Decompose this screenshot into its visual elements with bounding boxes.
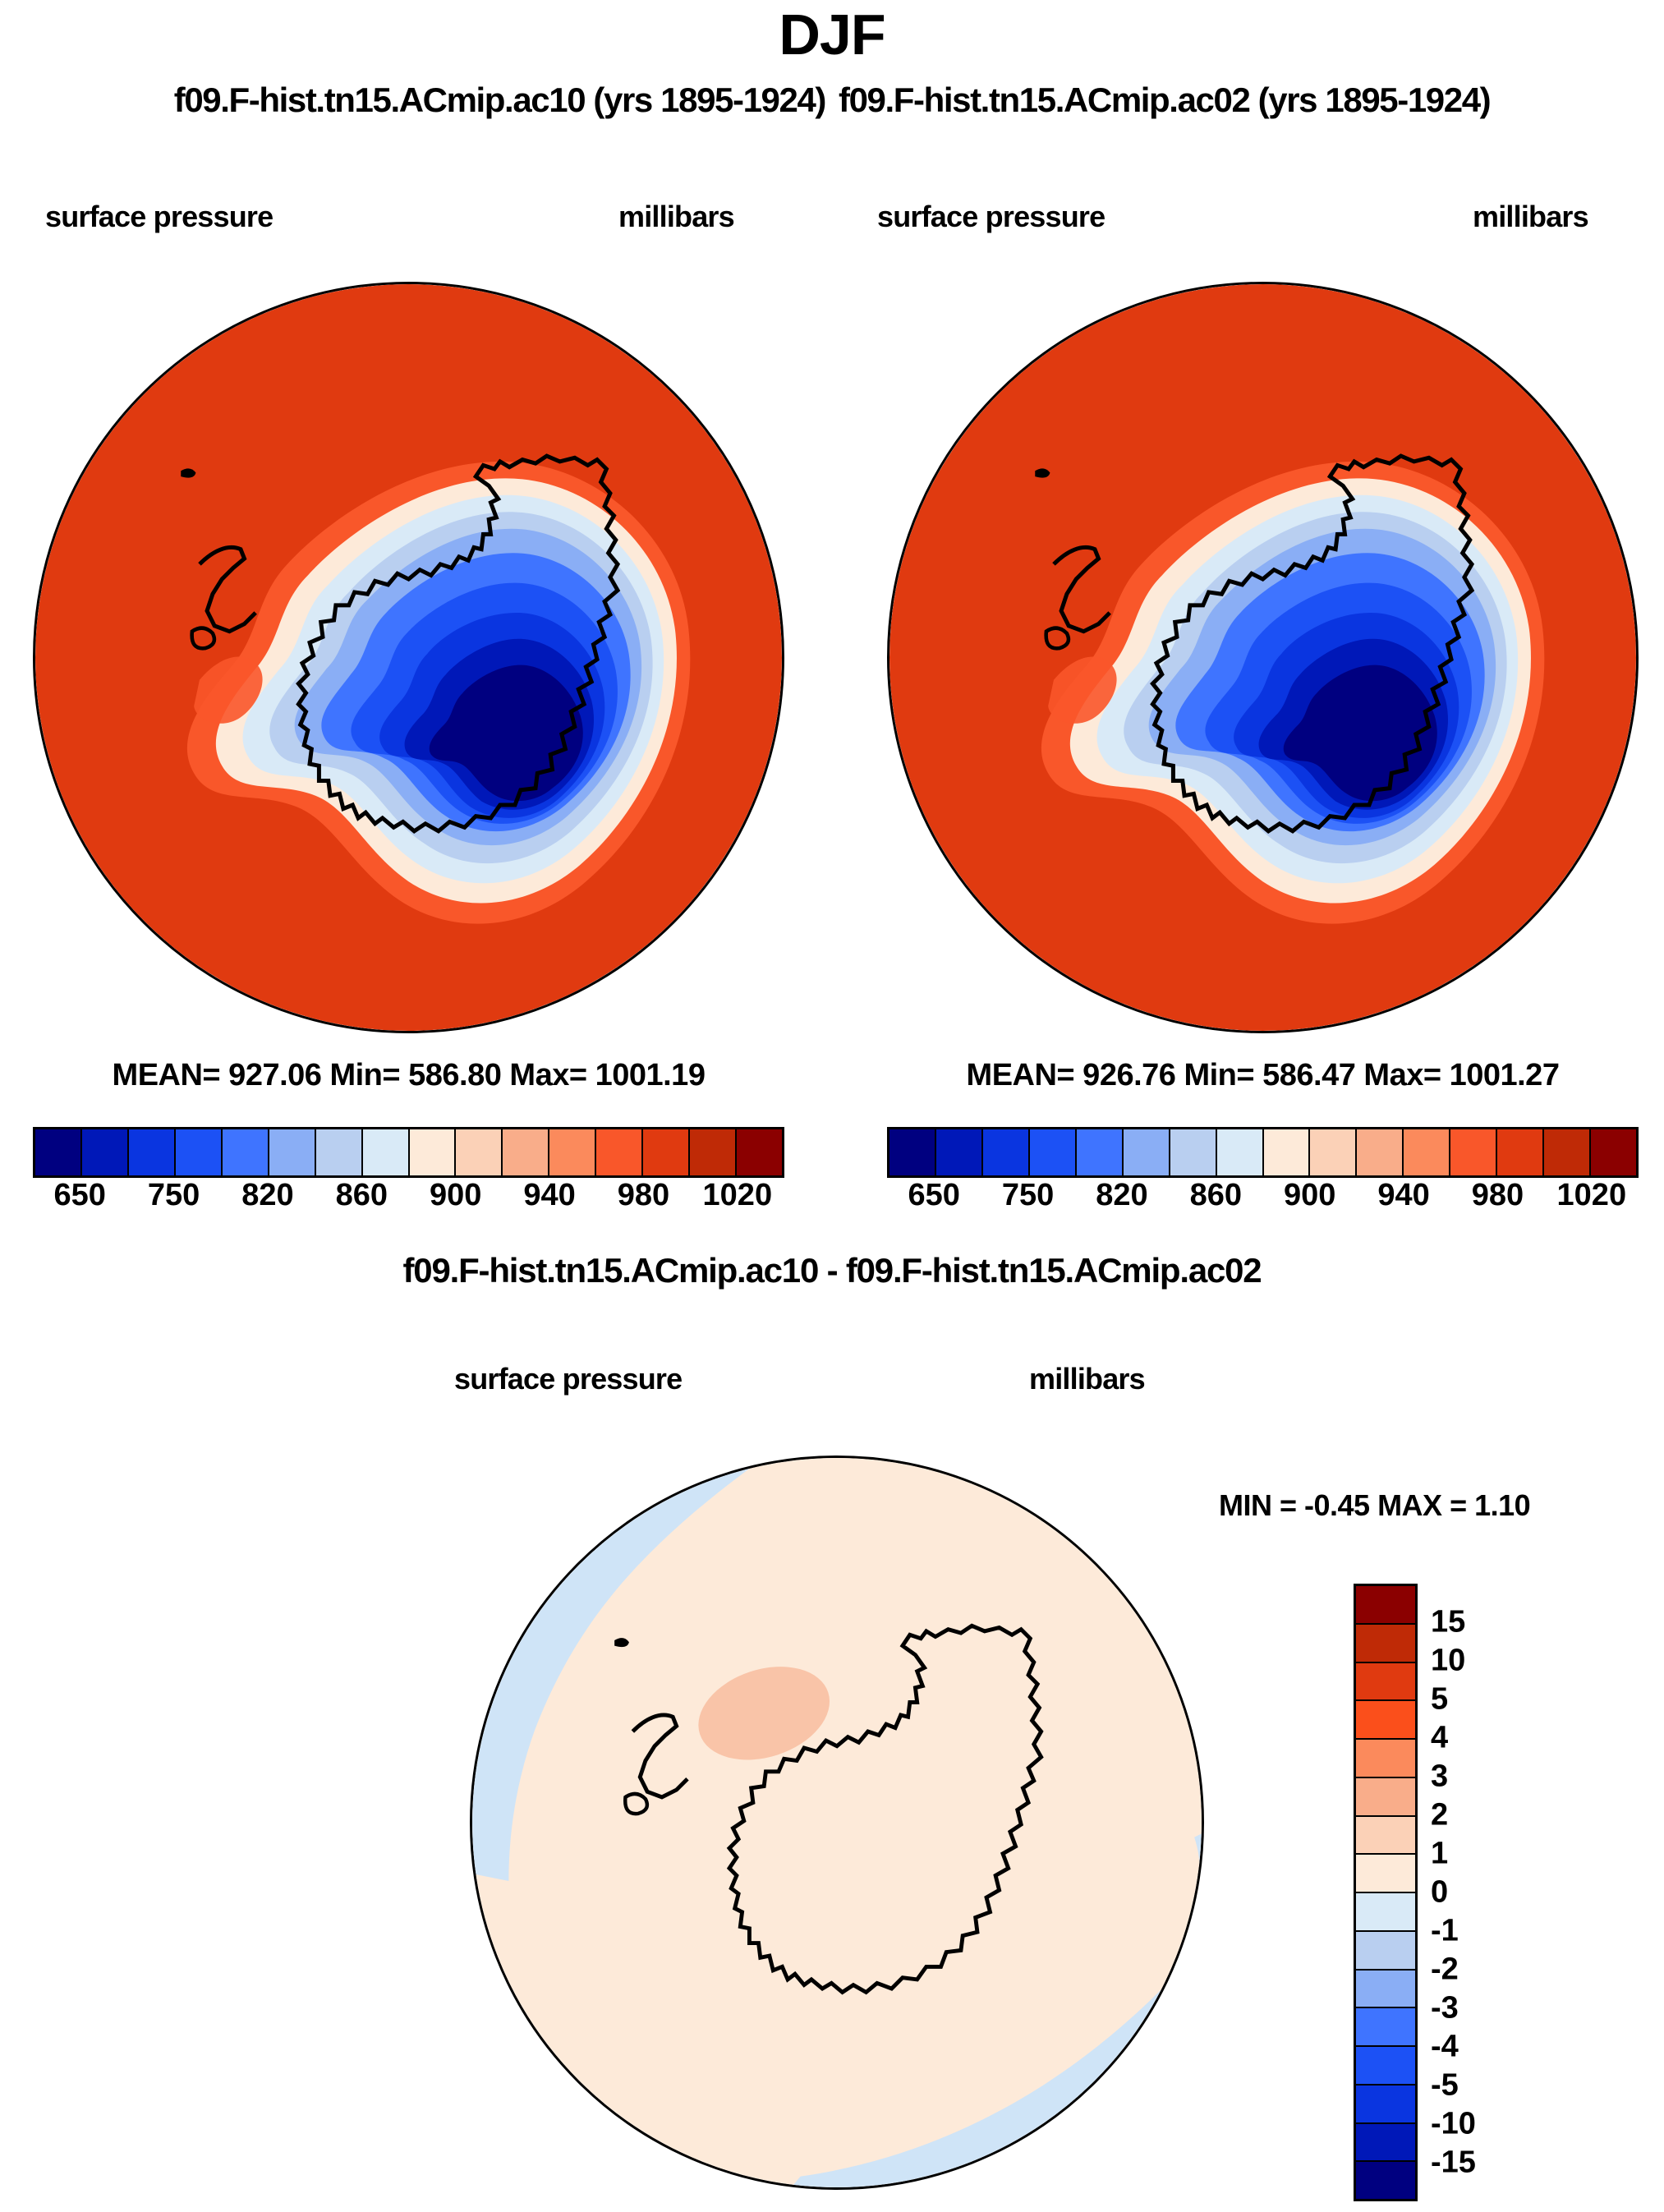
colorbar-tick-label: -10 [1431, 2107, 1476, 2142]
right-stats: MEAN= 926.76 Min= 586.47 Max= 1001.27 [887, 1058, 1639, 1093]
colorbar-segment [1357, 1129, 1404, 1175]
colorbar-tick-label: 860 [336, 1178, 388, 1213]
colorbar-left[interactable] [33, 1127, 784, 1178]
colorbar-segment [35, 1129, 82, 1175]
colorbar-segment [549, 1129, 596, 1175]
colorbar-tick-label: 750 [148, 1178, 200, 1213]
colorbar-segment [82, 1129, 129, 1175]
colorbar-tick-label: -15 [1431, 2145, 1476, 2181]
colorbar-segment [643, 1129, 690, 1175]
colorbar-diff-ticks: 1510543210-1-2-3-4-5-10-15 [1431, 1584, 1546, 2201]
diff-title: f09.F-hist.tn15.ACmip.ac10 - f09.F-hist.… [0, 1251, 1664, 1290]
colorbar-tick-label: 4 [1431, 1721, 1448, 1756]
colorbar-segment [936, 1129, 983, 1175]
colorbar-tick-label: 0 [1431, 1875, 1448, 1911]
colorbar-segment [1450, 1129, 1497, 1175]
colorbar-segment [1356, 1740, 1415, 1778]
colorbar-segment [1356, 1586, 1415, 1625]
colorbar-tick-label: 15 [1431, 1605, 1465, 1640]
map-diff-svg [472, 1458, 1202, 2187]
left-units-label: millibars [618, 200, 734, 234]
diff-variable-label: surface pressure [454, 1362, 682, 1396]
colorbar-segment [1217, 1129, 1264, 1175]
colorbar-tick-label: 650 [908, 1178, 959, 1213]
colorbar-tick-label: -1 [1431, 1914, 1459, 1949]
colorbar-tick-label: 980 [1472, 1178, 1524, 1213]
right-units-label: millibars [1473, 200, 1588, 234]
colorbar-segment [1356, 1778, 1415, 1817]
colorbar-tick-label: -2 [1431, 1952, 1459, 1988]
colorbar-segment [223, 1129, 269, 1175]
colorbar-segment [363, 1129, 410, 1175]
colorbar-segment [1170, 1129, 1217, 1175]
colorbar-segment [269, 1129, 316, 1175]
colorbar-segment [129, 1129, 176, 1175]
colorbar-tick-label: 820 [241, 1178, 293, 1213]
map-left-svg [35, 284, 782, 1031]
left-variable-label: surface pressure [45, 200, 273, 234]
colorbar-tick-label: -3 [1431, 1991, 1459, 2026]
map-right-svg [889, 284, 1636, 1031]
colorbar-segment [1356, 1855, 1415, 1893]
colorbar-segment [596, 1129, 643, 1175]
colorbar-segment [456, 1129, 503, 1175]
map-right-fields [889, 284, 1636, 1031]
colorbar-segment [410, 1129, 457, 1175]
colorbar-segment [1030, 1129, 1077, 1175]
colorbar-tick-label: 3 [1431, 1759, 1448, 1795]
right-variable-label: surface pressure [877, 200, 1105, 234]
colorbar-tick-label: 2 [1431, 1798, 1448, 1833]
colorbar-right[interactable] [887, 1127, 1639, 1178]
colorbar-tick-label: 900 [430, 1178, 481, 1213]
colorbar-segment [1356, 2124, 1415, 2163]
colorbar-segment [1356, 1817, 1415, 1856]
case-title-left: f09.F-hist.tn15.ACmip.ac10 (yrs 1895-192… [174, 80, 825, 120]
colorbar-segment [1356, 2086, 1415, 2124]
colorbar-segment [176, 1129, 223, 1175]
colorbar-segment [983, 1129, 1030, 1175]
left-stats: MEAN= 927.06 Min= 586.80 Max= 1001.19 [33, 1058, 784, 1093]
diff-units-label: millibars [1029, 1362, 1145, 1396]
colorbar-tick-label: 650 [53, 1178, 105, 1213]
case-titles-row: f09.F-hist.tn15.ACmip.ac10 (yrs 1895-192… [0, 80, 1664, 120]
colorbar-segment [889, 1129, 936, 1175]
colorbar-tick-label: 1 [1431, 1837, 1448, 1872]
colorbar-segment [690, 1129, 737, 1175]
colorbar-diff-wrap [1354, 1584, 1418, 2201]
colorbar-segment [1356, 1971, 1415, 2009]
colorbar-segment [1591, 1129, 1636, 1175]
colorbar-segment [1356, 1701, 1415, 1740]
diff-minmax: MIN = -0.45 MAX = 1.10 [1219, 1488, 1530, 1523]
colorbar-segment [1356, 2162, 1415, 2199]
colorbar-tick-label: 980 [618, 1178, 669, 1213]
colorbar-segment [1404, 1129, 1450, 1175]
colorbar-tick-label: 860 [1190, 1178, 1242, 1213]
colorbar-tick-label: -5 [1431, 2068, 1459, 2104]
colorbar-segment [1544, 1129, 1591, 1175]
colorbar-segment [1497, 1129, 1544, 1175]
colorbar-tick-label: 10 [1431, 1644, 1465, 1679]
colorbar-segment [1356, 1932, 1415, 1971]
colorbar-segment [316, 1129, 363, 1175]
colorbar-tick-label: 940 [1377, 1178, 1429, 1213]
map-left-antarctic-pressure[interactable] [33, 282, 784, 1033]
colorbar-right-ticks: 6507508208609009409801020 [887, 1178, 1639, 1227]
colorbar-tick-label: 820 [1096, 1178, 1147, 1213]
map-diff-antarctic-pressure[interactable] [470, 1456, 1204, 2190]
map-right-antarctic-pressure[interactable] [887, 282, 1639, 1033]
colorbar-segment [503, 1129, 549, 1175]
colorbar-segment [1356, 1893, 1415, 1932]
colorbar-segment [737, 1129, 782, 1175]
colorbar-tick-label: 5 [1431, 1682, 1448, 1718]
colorbar-tick-label: 900 [1284, 1178, 1335, 1213]
map-diff-fields [472, 1458, 1202, 2187]
colorbar-tick-label: 1020 [703, 1178, 773, 1213]
colorbar-tick-label: -4 [1431, 2030, 1459, 2065]
page-title: DJF [0, 2, 1664, 67]
colorbar-tick-label: 750 [1002, 1178, 1054, 1213]
colorbar-segment [1310, 1129, 1357, 1175]
colorbar-diff[interactable] [1354, 1584, 1418, 2201]
case-title-right: f09.F-hist.tn15.ACmip.ac02 (yrs 1895-192… [839, 80, 1490, 120]
colorbar-segment [1356, 1663, 1415, 1702]
colorbar-segment [1124, 1129, 1170, 1175]
colorbar-segment [1356, 2008, 1415, 2047]
colorbar-left-ticks: 6507508208609009409801020 [33, 1178, 784, 1227]
colorbar-segment [1356, 1625, 1415, 1663]
colorbar-tick-label: 940 [523, 1178, 575, 1213]
colorbar-segment [1077, 1129, 1124, 1175]
colorbar-segment [1264, 1129, 1311, 1175]
map-left-fields [35, 284, 782, 1031]
colorbar-tick-label: 1020 [1557, 1178, 1627, 1213]
colorbar-segment [1356, 2047, 1415, 2086]
